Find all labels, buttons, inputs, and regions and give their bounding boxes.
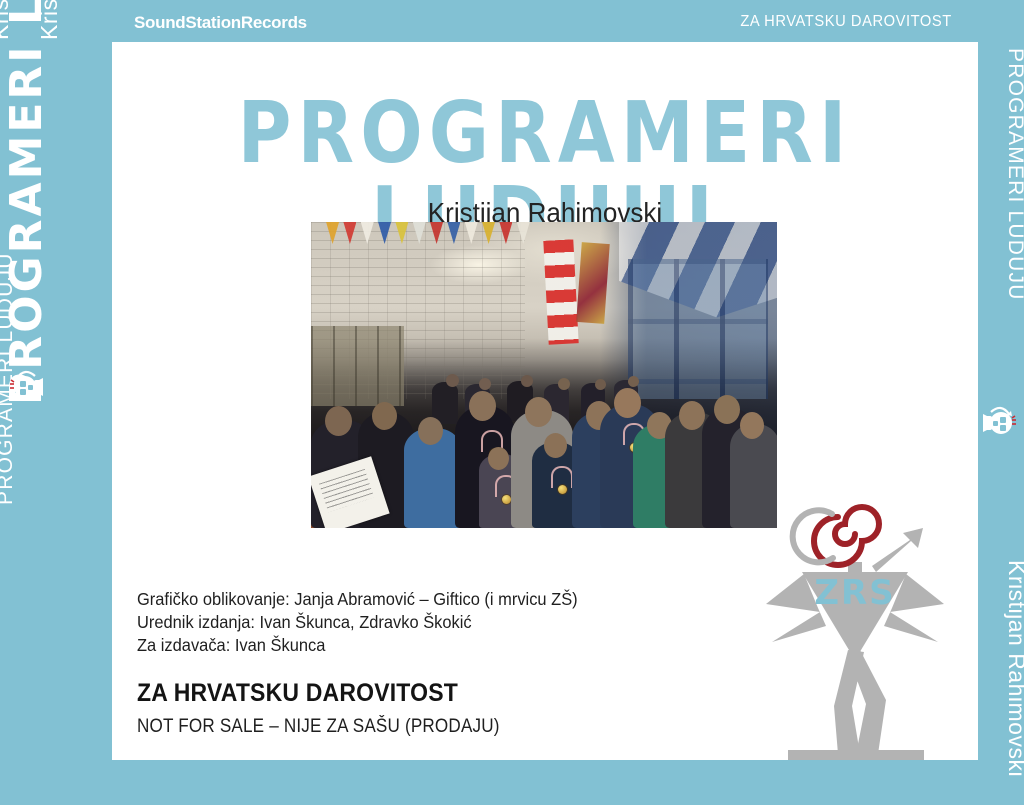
slogan-heading: ZA HRVATSKU DAROVITOST — [137, 679, 458, 708]
credit-line-editor: Urednik izdanja: Ivan Škunca, Zdravko Šk… — [137, 611, 578, 634]
credit-line-publisher: Za izdavača: Ivan Škunca — [137, 634, 578, 657]
album-cover: SoundStationRecords ZA HRVATSKU DAROVITO… — [0, 0, 1024, 805]
credits-block: Grafičko oblikovanje: Janja Abramović – … — [137, 588, 578, 657]
publisher-label: SoundStationRecords — [134, 13, 307, 33]
soundstation-mascot-icon-mirrored — [978, 398, 1018, 440]
spine-left-title-big: PROGRAMERI LUDUJU — [1, 60, 52, 405]
credit-line-design: Grafičko oblikovanje: Janja Abramović – … — [137, 588, 578, 611]
header-slogan-label: ZA HRVATSKU DAROVITOST — [741, 13, 952, 31]
front-panel: PROGRAMERI LUDUJU Kristijan Rahimovski — [112, 42, 978, 760]
spine-right-title: PROGRAMERI LUDUJU — [1003, 48, 1024, 338]
zrs-logo: ZRS — [760, 500, 950, 760]
cover-photograph — [311, 222, 777, 528]
soundstation-mascot-icon — [8, 362, 48, 404]
not-for-sale-note: NOT FOR SALE – NIJE ZA SAŠU (PRODAJU) — [137, 716, 500, 738]
zrs-logo-text: ZRS — [814, 573, 895, 613]
spine-right-author: Kristijan Rahimovski — [1003, 560, 1024, 805]
